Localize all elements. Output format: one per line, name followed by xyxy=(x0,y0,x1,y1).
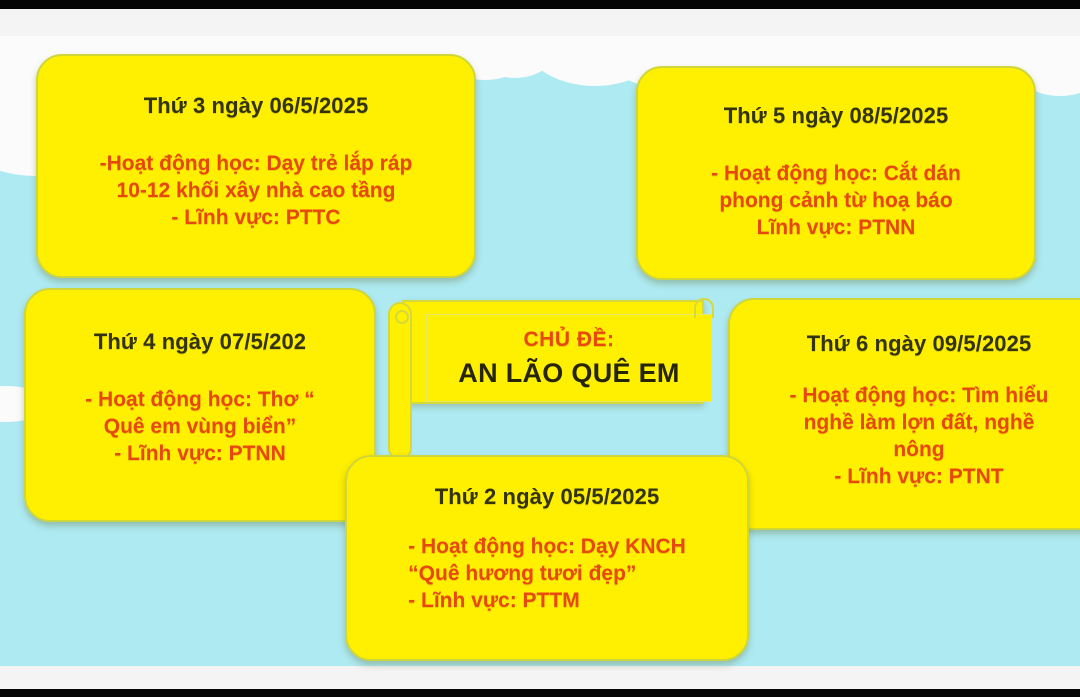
day-card-friday[interactable]: Thứ 6 ngày 09/5/2025 - Hoạt động học: Tì… xyxy=(728,298,1080,530)
day-card-date: Thứ 6 ngày 09/5/2025 xyxy=(807,330,1032,358)
day-card-body: - Hoạt động học: Cắt dán phong cảnh từ h… xyxy=(711,160,961,242)
letterbox-bar-bottom xyxy=(0,689,1080,697)
day-card-line: 10-12 khối xây nhà cao tầng xyxy=(100,177,413,204)
day-card-date: Thứ 3 ngày 06/5/2025 xyxy=(144,92,369,120)
scroll-sheet: CHỦ ĐỀ: AN LÃO QUÊ EM xyxy=(402,300,704,404)
day-card-line: Lĩnh vực: PTNN xyxy=(711,214,961,241)
slide-canvas: Thứ 3 ngày 06/5/2025 -Hoạt động học: Dạy… xyxy=(0,0,1080,697)
day-card-line: - Hoạt động học: Tìm hiểu xyxy=(790,382,1049,409)
day-card-line: - Lĩnh vực: PTNT xyxy=(790,463,1049,490)
day-card-wednesday[interactable]: Thứ 4 ngày 07/5/202 - Hoạt động học: Thơ… xyxy=(24,288,376,522)
day-card-tuesday[interactable]: Thứ 3 ngày 06/5/2025 -Hoạt động học: Dạy… xyxy=(36,54,476,278)
day-card-line: -Hoạt động học: Dạy trẻ lắp ráp xyxy=(100,150,413,177)
scroll-inner-panel: CHỦ ĐỀ: AN LÃO QUÊ EM xyxy=(426,314,712,402)
day-card-thursday[interactable]: Thứ 5 ngày 08/5/2025 - Hoạt động học: Cắ… xyxy=(636,66,1036,280)
letterbox-bar-top xyxy=(0,0,1080,9)
day-card-line: - Lĩnh vực: PTTM xyxy=(408,587,686,614)
day-card-line: nông xyxy=(790,436,1049,463)
day-card-line: “Quê hương tươi đẹp” xyxy=(408,560,686,587)
scroll-curl-left-icon xyxy=(388,302,412,460)
day-card-line: Quê em vùng biển” xyxy=(85,413,315,440)
day-card-line: - Hoạt động học: Dạy KNCH xyxy=(408,533,686,560)
theme-scroll-banner: CHỦ ĐỀ: AN LÃO QUÊ EM xyxy=(388,296,718,411)
scroll-curl-spiral-icon xyxy=(395,310,409,324)
theme-title: AN LÃO QUÊ EM xyxy=(458,358,679,389)
day-card-line: - Hoạt động học: Cắt dán xyxy=(711,160,961,187)
day-card-body: - Hoạt động học: Dạy KNCH “Quê hương tươ… xyxy=(408,533,686,615)
day-card-line: nghề làm lợn đất, nghề xyxy=(790,409,1049,436)
scroll-curl-right-icon xyxy=(694,298,714,318)
background-strip-bottom xyxy=(0,663,1080,689)
day-card-date: Thứ 5 ngày 08/5/2025 xyxy=(724,102,949,130)
background-strip-top xyxy=(0,9,1080,39)
day-card-line: phong cảnh từ hoạ báo xyxy=(711,187,961,214)
day-card-body: - Hoạt động học: Tìm hiểu nghề làm lợn đ… xyxy=(790,382,1049,491)
day-card-date: Thứ 4 ngày 07/5/202 xyxy=(94,328,306,356)
theme-label: CHỦ ĐỀ: xyxy=(524,328,615,352)
day-card-body: - Hoạt động học: Thơ “ Quê em vùng biển”… xyxy=(85,386,315,468)
day-card-line: - Lĩnh vực: PTTC xyxy=(100,204,413,231)
day-card-line: - Hoạt động học: Thơ “ xyxy=(85,386,315,413)
day-card-monday[interactable]: Thứ 2 ngày 05/5/2025 - Hoạt động học: Dạ… xyxy=(345,455,749,661)
day-card-date: Thứ 2 ngày 05/5/2025 xyxy=(435,483,660,511)
day-card-body: -Hoạt động học: Dạy trẻ lắp ráp 10-12 kh… xyxy=(100,150,413,232)
day-card-line: - Lĩnh vực: PTNN xyxy=(85,440,315,467)
